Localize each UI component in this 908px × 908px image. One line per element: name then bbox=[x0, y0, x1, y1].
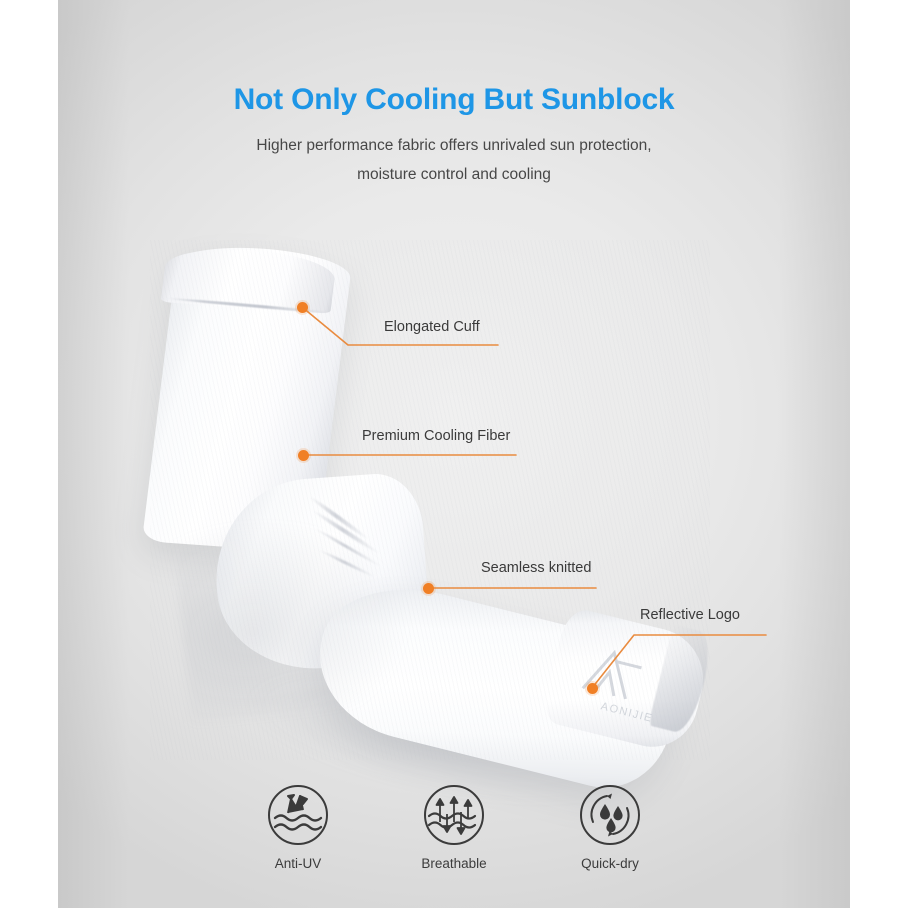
callout-dot-elongated-cuff[interactable] bbox=[297, 302, 308, 313]
callout-label-elongated-cuff: Elongated Cuff bbox=[384, 319, 480, 335]
callout-dot-seamless-knitted[interactable] bbox=[423, 583, 434, 594]
feature-label-quick-dry: Quick-dry bbox=[558, 856, 662, 871]
callout-label-premium-cooling-fiber: Premium Cooling Fiber bbox=[362, 428, 510, 444]
feature-label-breathable: Breathable bbox=[402, 856, 506, 871]
feature-anti-uv: Anti-UV bbox=[246, 784, 350, 871]
uv-waves-icon bbox=[267, 784, 329, 846]
callout-dot-premium-cooling-fiber[interactable] bbox=[298, 450, 309, 461]
feature-label-anti-uv: Anti-UV bbox=[246, 856, 350, 871]
callout-line-3 bbox=[592, 635, 766, 688]
feature-icon-row: Anti-UV Breathable bbox=[58, 784, 850, 871]
infographic-page: Not Only Cooling But Sunblock Higher per… bbox=[0, 0, 908, 908]
callout-dot-reflective-logo[interactable] bbox=[587, 683, 598, 694]
droplets-cycle-icon bbox=[579, 784, 641, 846]
feature-quick-dry: Quick-dry bbox=[558, 784, 662, 871]
callout-label-reflective-logo: Reflective Logo bbox=[640, 607, 740, 623]
feature-breathable: Breathable bbox=[402, 784, 506, 871]
callout-leader-lines bbox=[0, 0, 908, 908]
airflow-waves-icon bbox=[423, 784, 485, 846]
callout-label-seamless-knitted: Seamless knitted bbox=[481, 560, 591, 576]
